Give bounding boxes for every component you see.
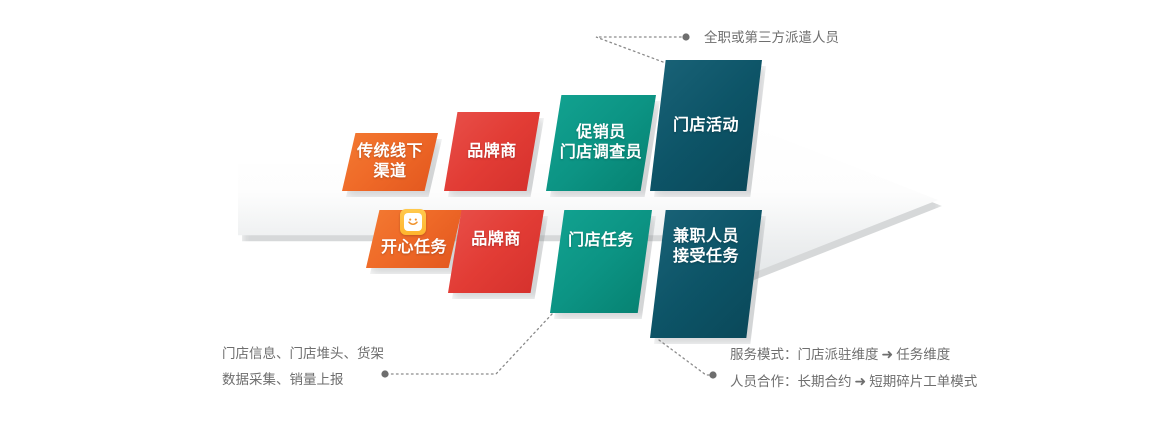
annotation-line: 全职或第三方派遣人员	[704, 25, 839, 51]
block-label: 品牌商	[461, 142, 523, 162]
connector-bottom-left	[387, 314, 552, 374]
connector-dot-top-right	[682, 33, 689, 40]
smiley-face-inner	[404, 213, 422, 231]
annotation-line-cooperation: 人员合作：长期合约➜短期碎片工单模式	[730, 368, 977, 395]
block-store-activity[interactable]: 门店活动	[650, 60, 762, 191]
block-brand-owner-top[interactable]: 品牌商	[444, 112, 540, 191]
annotation-bottom-right: 服务模式：门店派驻维度➜任务维度 人员合作：长期合约➜短期碎片工单模式	[730, 341, 977, 396]
connector-bottom-right	[659, 340, 712, 375]
annotation-text: 服务模式：门店派驻维度	[730, 347, 879, 362]
annotation-line: 数据采集、销量上报	[222, 367, 384, 393]
block-label: 兼职人员 接受任务	[667, 227, 745, 267]
connector-top-right	[596, 37, 684, 62]
annotation-line: 门店信息、门店堆头、货架	[222, 341, 384, 367]
block-promoter-surveyor[interactable]: 促销员 门店调查员	[546, 95, 656, 191]
block-label: 传统线下 渠道	[351, 142, 429, 182]
block-label: 促销员 门店调查员	[554, 123, 649, 163]
annotation-text: 人员合作：长期合约	[730, 374, 852, 389]
block-store-task[interactable]: 门店任务	[550, 210, 652, 313]
block-brand-owner-bottom[interactable]: 品牌商	[448, 210, 544, 293]
annotation-text: 短期碎片工单模式	[869, 374, 977, 389]
smiley-face-icon	[400, 209, 426, 235]
block-label: 品牌商	[465, 230, 527, 250]
block-parttime-accept-task[interactable]: 兼职人员 接受任务	[650, 210, 762, 338]
right-arrow-icon: ➜	[852, 373, 870, 389]
diagram-canvas: 传统线下 渠道 品牌商 促销员 门店调查员 门店活动 开心任务 品牌商 门店任务…	[0, 0, 1150, 430]
right-arrow-icon: ➜	[879, 346, 897, 362]
annotation-text: 任务维度	[896, 347, 950, 362]
block-label: 开心任务	[375, 238, 453, 258]
block-traditional-channel[interactable]: 传统线下 渠道	[342, 133, 438, 191]
annotation-top-right: 全职或第三方派遣人员	[704, 25, 839, 51]
connector-dot-bottom-right	[709, 371, 716, 378]
annotation-line-service-mode: 服务模式：门店派驻维度➜任务维度	[730, 341, 977, 368]
block-label: 门店任务	[562, 231, 640, 251]
block-label: 门店活动	[667, 116, 745, 136]
annotation-bottom-left: 门店信息、门店堆头、货架 数据采集、销量上报	[222, 341, 384, 394]
